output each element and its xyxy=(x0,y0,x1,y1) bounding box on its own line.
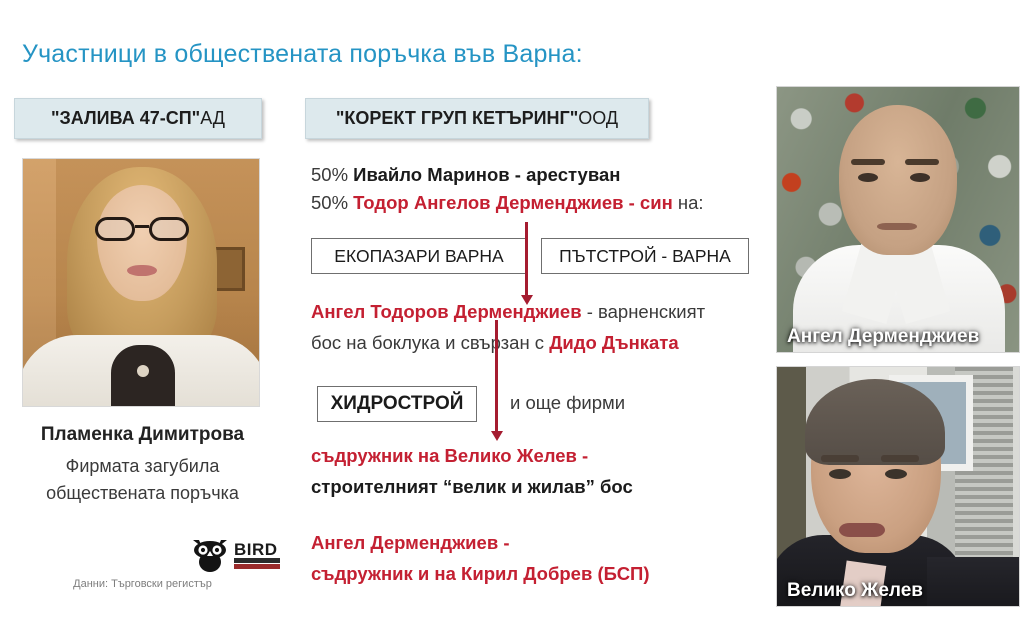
owner-2-tail: на: xyxy=(673,192,704,213)
para1-gray-1: - варненският xyxy=(582,301,706,322)
necklace-pendant xyxy=(137,365,149,377)
lens-right xyxy=(149,217,189,241)
bird-logo-subtext-accent xyxy=(234,564,280,569)
para3-line-1: Ангел Дерменджиев - xyxy=(311,532,510,553)
company-chip-zaliva-quoted: "ЗАЛИВА 47-СП" xyxy=(51,108,200,129)
photo-plamenka-dimitrova xyxy=(22,158,260,407)
para1-red-name: Ангел Тодоров Дерменджиев xyxy=(311,301,582,322)
left-person-description: Фирмата загубила обществената поръчка xyxy=(0,453,285,507)
slide-root: Участници в обществената поръчка във Вар… xyxy=(0,0,1024,627)
glasses-bridge xyxy=(135,225,149,228)
bird-logo-word: BIRD xyxy=(234,540,278,560)
mouth-shape xyxy=(877,223,917,230)
owl-icon xyxy=(190,538,230,572)
brow-right xyxy=(881,455,919,462)
coat-shoulder xyxy=(927,557,1020,607)
company-chip-zaliva: "ЗАЛИВА 47-СП" АД xyxy=(14,98,262,139)
bird-logo-subtext xyxy=(234,558,280,563)
para2-dark-line: строителният “велик и жилав” бос xyxy=(311,476,633,497)
eye-right xyxy=(885,469,907,479)
photo-veliko-zhelev: Велико Желев xyxy=(776,366,1020,607)
owner-1-percent: 50% xyxy=(311,164,353,185)
owner-2-name: Тодор Ангелов Дерменджиев - син xyxy=(353,192,673,213)
para1-red-dido: Дидо Дънката xyxy=(549,332,678,353)
owner-line-2: 50% Тодор Ангелов Дерменджиев - син на: xyxy=(311,192,704,214)
para2-red-line: съдружник на Велико Желев - xyxy=(311,445,588,466)
company-chip-korekt-quoted: "КОРЕКТ ГРУП КЕТЪРИНГ" xyxy=(336,108,578,129)
eye-right xyxy=(910,173,930,182)
flow-arrow-bottom xyxy=(495,320,498,432)
owner-2-percent: 50% xyxy=(311,192,353,213)
glasses-icon xyxy=(95,217,189,241)
brow-left xyxy=(821,455,859,462)
para1-gray-3: свързан с xyxy=(461,332,550,353)
photo-caption-veliko: Велико Желев xyxy=(787,580,923,602)
photo-angel-dermendzhiev: Ангел Дерменджиев xyxy=(776,86,1020,353)
company-chip-korekt: "КОРЕКТ ГРУП КЕТЪРИНГ" ООД xyxy=(305,98,649,139)
company-box-hidrostroy: ХИДРОСТРОЙ xyxy=(317,386,477,422)
page-title: Участници в обществената поръчка във Вар… xyxy=(22,40,583,69)
para3-line-2: съдружник и на Кирил Добрев (БСП) xyxy=(311,563,650,584)
left-person-name: Пламенка Димитрова xyxy=(0,424,285,446)
eye-left xyxy=(858,173,878,182)
paragraph-angel-dermendzhiev: Ангел Тодоров Дерменджиев - варненският … xyxy=(311,296,781,358)
flow-arrow-top xyxy=(525,222,528,296)
owner-line-1: 50% Ивайло Маринов - арестуван xyxy=(311,164,620,186)
bird-logo: BIRD xyxy=(190,538,282,572)
photo-caption-angel: Ангел Дерменджиев xyxy=(787,326,979,348)
paragraph-kiril-dobrev: Ангел Дерменджиев - съдружник и на Кирил… xyxy=(311,527,781,589)
company-chip-zaliva-suffix: АД xyxy=(200,108,225,129)
lips-shape xyxy=(127,265,157,276)
company-chip-korekt-suffix: ООД xyxy=(578,108,618,129)
owner-1-name: Ивайло Маринов - арестуван xyxy=(353,164,620,185)
head-shape xyxy=(839,105,957,255)
face-shape xyxy=(97,185,187,301)
brow-left xyxy=(851,159,885,165)
brow-right xyxy=(905,159,939,165)
company-box-ekopazari: ЕКОПАЗАРИ ВАРНА xyxy=(311,238,527,274)
eye-left xyxy=(829,469,851,479)
paragraph-veliko-zhelev: съдружник на Велико Желев - строителният… xyxy=(311,440,781,502)
left-person-description-line2: обществената поръчка xyxy=(0,480,285,507)
more-firms-text: и още фирми xyxy=(510,392,625,414)
para1-gray-2: бос на боклука и xyxy=(311,332,461,353)
lens-left xyxy=(95,217,135,241)
mouth-shape xyxy=(839,523,885,537)
left-person-description-line1: Фирмата загубила xyxy=(0,453,285,480)
source-attribution: Данни: Търговски регистър xyxy=(0,578,285,590)
company-box-patstroy: ПЪТСТРОЙ - ВАРНА xyxy=(541,238,749,274)
